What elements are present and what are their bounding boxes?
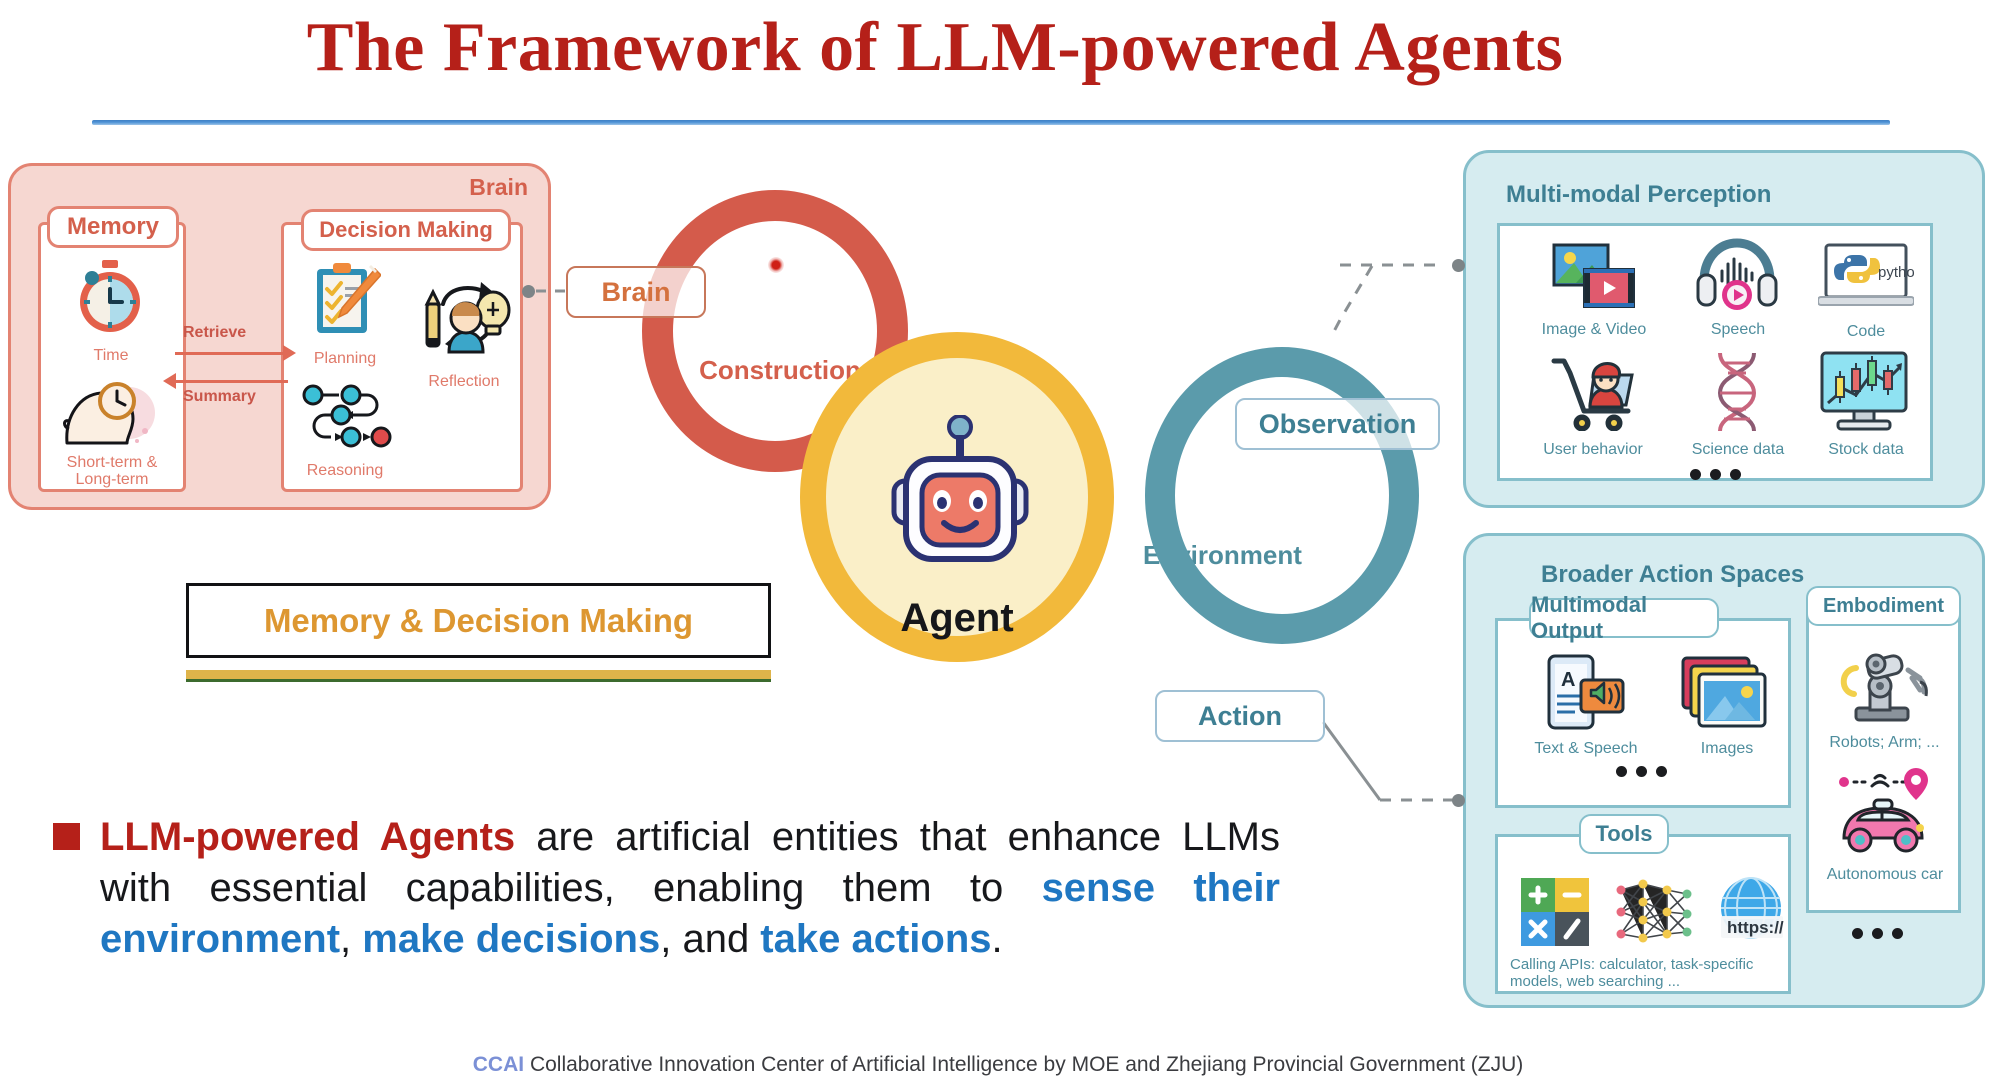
retrieve-label: Retrieve [183, 324, 246, 342]
photo-stack-icon [1681, 656, 1769, 730]
neural-network-icon [1611, 876, 1695, 948]
body-seg-6: take actions [760, 917, 991, 961]
perception-caption-0: Image & Video [1528, 321, 1660, 339]
embodiment-caption-0: Robots; Arm; ... [1812, 734, 1957, 752]
slide-root: The Framework of LLM-powered Agents Brai… [0, 0, 1996, 1074]
environment-ring [1145, 347, 1419, 644]
body-seg-4: make decisions [362, 917, 660, 961]
broader-action-spaces-panel: Broader Action Spaces Multimodal Output … [1463, 533, 1985, 1008]
page-title: The Framework of LLM-powered Agents [0, 8, 1870, 88]
image-video-icon [1550, 241, 1638, 313]
perception-panel-title: Multi-modal Perception [1506, 181, 1771, 209]
footer-acronym: CCAI [473, 1053, 524, 1076]
body-seg-0: LLM-powered Agents [100, 815, 515, 859]
robot-arm-icon [1834, 646, 1934, 728]
summary-arrow-line [175, 380, 288, 383]
dna-helix-icon [1706, 351, 1768, 433]
node-graph-icon [301, 381, 397, 461]
reasoning-caption: Reasoning [295, 463, 395, 480]
title-underline-rule [92, 120, 1890, 125]
footer-text: Collaborative Innovation Center of Artif… [530, 1053, 1523, 1076]
mmout-caption-0: Text & Speech [1524, 740, 1648, 758]
candlestick-chart-icon [1816, 351, 1912, 433]
summary-arrow-head [163, 373, 176, 389]
action-panel-title: Broader Action Spaces [1541, 561, 1804, 589]
python-laptop-icon: python [1818, 243, 1914, 309]
multimodal-perception-panel: Multi-modal Perception Image & Video [1463, 150, 1985, 508]
memory-label: Memory [47, 206, 179, 248]
svg-text:A: A [1561, 669, 1575, 691]
svg-text:https://: https:// [1727, 918, 1784, 937]
footer: CCAI Collaborative Innovation Center of … [0, 1053, 1996, 1077]
bullet-square-icon [53, 823, 80, 850]
stopwatch-icon [66, 258, 154, 338]
connector-dot-perception [1452, 259, 1465, 272]
agent-robot-icon [880, 415, 1040, 580]
body-seg-3: , [340, 917, 362, 961]
body-seg-5: , and [660, 917, 760, 961]
perception-caption-2: Code [1818, 323, 1914, 341]
perception-caption-4: Science data [1680, 441, 1796, 459]
memory-shortlong-caption: Short-term & Long-term [41, 455, 183, 489]
perception-caption-3: User behavior [1528, 441, 1658, 459]
planning-caption: Planning [299, 351, 391, 368]
svg-text:python: python [1878, 264, 1914, 281]
multimodal-output-label: Multimodal Output [1529, 598, 1719, 638]
perception-more-dots-icon [1690, 469, 1741, 480]
head-clock-icon [57, 371, 162, 451]
retrieve-arrow-head [283, 345, 296, 361]
embodiment-caption-1: Autonomous car [1810, 866, 1960, 884]
mmout-caption-1: Images [1682, 740, 1772, 758]
embodiment-label: Embodiment [1806, 586, 1961, 626]
tools-label: Tools [1579, 814, 1669, 854]
summary-label: Summary [183, 388, 256, 406]
retrieve-arrow-line [175, 352, 288, 355]
calculator-icon [1519, 876, 1591, 948]
tools-caption: Calling APIs: calculator, task-specific … [1510, 956, 1788, 991]
shopping-cart-user-icon [1548, 355, 1638, 431]
mmout-more-dots-icon [1616, 766, 1667, 777]
brain-panel-title: Brain [469, 174, 528, 201]
pill-brain[interactable]: Brain [566, 266, 706, 318]
memory-decision-banner-underline [186, 670, 771, 682]
person-lightbulb-icon [415, 276, 511, 366]
perception-caption-1: Speech [1682, 321, 1794, 339]
clipboard-pencil-icon [309, 261, 381, 341]
memory-decision-banner: Memory & Decision Making [186, 583, 771, 658]
autonomous-car-icon [1832, 764, 1934, 860]
headphones-speech-icon [1696, 237, 1778, 313]
memory-time-caption: Time [41, 348, 181, 365]
body-seg-7: . [992, 917, 1003, 961]
perception-caption-5: Stock data [1818, 441, 1914, 459]
construction-label: Construction [690, 355, 870, 386]
highlight-dot-icon [768, 257, 784, 273]
pill-action[interactable]: Action [1155, 690, 1325, 742]
pill-observation[interactable]: Observation [1235, 398, 1440, 450]
decision-making-label: Decision Making [301, 209, 511, 251]
connector-dot-action [1452, 794, 1465, 807]
brain-panel: Brain Memory Decision Making Time [8, 163, 551, 510]
phone-text-speaker-icon: A [1541, 654, 1629, 732]
https-globe-icon: https:// [1711, 874, 1791, 950]
reflection-caption: Reflection [409, 374, 519, 391]
body-paragraph: LLM-powered Agents are artificial entiti… [100, 812, 1280, 966]
embodiment-more-dots-icon [1852, 928, 1903, 939]
connector-dot-brain [522, 285, 535, 298]
agent-label: Agent [800, 596, 1114, 641]
